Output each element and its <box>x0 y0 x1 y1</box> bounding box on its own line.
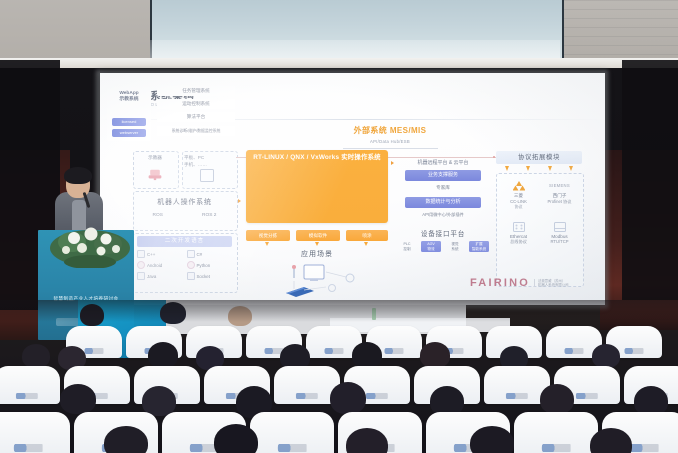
sdk-languages-grid: C++ C# Android Python Java Socket <box>137 250 232 280</box>
ros2-item: ROS 2 <box>202 213 216 218</box>
fairino-logo: FAIRINO 法奥意威（苏州） 机器人系统有限公司 <box>470 277 590 289</box>
robot-os-items: ROS ROS 2 <box>133 213 236 218</box>
cloud-service-button: 业务支撑服务 <box>405 170 481 181</box>
tablet-icon <box>200 169 214 182</box>
down-arrow-icon <box>505 166 509 171</box>
protocol-note: RTU/TCP <box>540 239 579 244</box>
audience-head <box>60 384 96 414</box>
screenshot-root: 控制系统架构 CONTROL SYSTEM STRUCTURE 外部系统 MES… <box>0 0 678 453</box>
lang-label: Python <box>197 263 211 268</box>
lang-item: Socket <box>187 272 233 280</box>
core-modules-list: 任务管理系统 运动控制系统 算法平台 系统诊断/维护/数据监控系统 <box>157 86 235 139</box>
realtime-os-header: RT-LINUX / QNX / VxWorks 实时操作系统 <box>246 152 388 161</box>
tab-arrow <box>315 242 319 246</box>
python-icon <box>187 261 195 269</box>
tab-arrow <box>265 242 269 246</box>
sdk-languages-header: 二次开发语言 <box>137 236 232 247</box>
audience-head <box>540 384 574 414</box>
mitsubishi-icon <box>499 179 538 192</box>
protocol-item: SIEMENS 西门子 Profinet 协议 <box>540 179 579 210</box>
audience-chair <box>250 412 334 453</box>
audience-head <box>330 382 366 414</box>
api-hub-label: API/Data Hub/ESB <box>315 139 465 144</box>
wall-right-texture <box>558 0 678 60</box>
siemens-icon: SIEMENS <box>540 179 579 192</box>
external-system-label: 外部系统 MES/MIS <box>315 125 465 136</box>
webapp-title: WebApp 示教系统 <box>107 91 151 103</box>
flower-arrangement <box>44 218 136 268</box>
presentation-slide: 控制系统架构 CONTROL SYSTEM STRUCTURE 外部系统 MES… <box>100 73 605 305</box>
fairino-wordmark: FAIRINO <box>470 277 530 289</box>
client-devices-label: 平板、PC 手机、…… <box>184 155 234 168</box>
application-scene-title: 应用场景 <box>246 249 388 259</box>
api-connector-line <box>343 148 438 149</box>
realtime-os-card: RT-LINUX / QNX / VxWorks 实时操作系统 <box>246 150 388 223</box>
audience-area <box>0 300 678 453</box>
app-tab: 模拟软件 <box>296 230 340 241</box>
expert-library-label: 专家库 <box>397 185 489 191</box>
audience-head <box>352 342 382 368</box>
lang-item: Java <box>137 272 183 280</box>
device-tag: PLC 控制 <box>397 242 417 251</box>
lang-item: Python <box>187 261 233 269</box>
lang-label: Android <box>147 263 162 268</box>
down-arrow-icon <box>526 166 530 171</box>
projection-screen: 控制系统架构 CONTROL SYSTEM STRUCTURE 外部系统 MES… <box>100 73 605 305</box>
audience-head <box>420 342 450 368</box>
protocol-item: Modbus RTU/TCP <box>540 220 579 245</box>
protocol-arrows <box>496 166 582 171</box>
csharp-icon <box>187 250 195 258</box>
audience-head <box>592 344 620 368</box>
app-tab: 视觉分拣 <box>246 230 290 241</box>
lang-item: C# <box>187 250 233 258</box>
connector-left <box>236 157 246 158</box>
lang-label: C++ <box>147 252 155 257</box>
device-tag: 扩展 智能系统 <box>469 241 489 252</box>
protocol-items-grid: 三菱 CC-LINK 协议 SIEMENS 西门子 Profinet 协议 Et… <box>499 179 579 245</box>
core-module-row: 运动控制系统 <box>157 99 235 109</box>
device-tag: AGV 物流 <box>421 241 441 252</box>
core-module-row: 系统诊断/维护/数据监控系统 <box>157 126 235 136</box>
lang-item: C++ <box>137 250 183 258</box>
core-module-row: 任务管理系统 <box>157 86 235 96</box>
app-tab: 喷涂 <box>346 230 388 241</box>
down-arrow-icon <box>548 166 552 171</box>
device-tag: 视觉 系统 <box>445 242 465 251</box>
teach-pendant-icon <box>147 168 163 181</box>
cloud-platform-title: 机器远程平台 & 云平台 <box>397 159 489 166</box>
audience-head <box>214 424 258 453</box>
android-icon <box>137 261 145 269</box>
api-center-label: API用微中心/外部插件 <box>397 212 489 218</box>
webapp-chip-webserver: webserver <box>112 129 146 137</box>
teach-pendant-label: 示教器 <box>133 155 177 161</box>
arrow-to-cloud <box>391 161 394 165</box>
ethercat-icon <box>499 220 538 233</box>
core-module-row: 算法平台 <box>157 112 235 122</box>
robot-os-title: 机器人操作系统 <box>133 197 236 207</box>
audience-chair <box>0 366 60 404</box>
audience-head <box>22 344 50 368</box>
socket-icon <box>187 272 195 280</box>
protocol-note: Profinet 协议 <box>540 199 579 205</box>
ceiling-band <box>0 58 678 68</box>
arrow-into-core <box>238 199 241 203</box>
wall-left-panel <box>0 0 152 60</box>
audience-chair <box>0 412 70 453</box>
down-arrow-icon <box>569 166 573 171</box>
cpp-icon <box>137 250 145 258</box>
device-platform-title: 设备接口平台 <box>397 228 489 238</box>
lang-label: C# <box>197 252 203 257</box>
tab-arrow <box>364 242 368 246</box>
lang-label: Java <box>147 274 156 279</box>
ros-item: ROS <box>153 213 163 218</box>
fairino-company-name: 法奥意威（苏州） 机器人系统有限公司 <box>534 279 569 287</box>
application-scene-illustration <box>246 261 388 303</box>
protocol-module-header: 协议拓展模块 <box>496 151 582 164</box>
protocol-note: 总线协议 <box>499 239 538 245</box>
protocol-item: Ethercat 总线协议 <box>499 220 538 245</box>
lang-label: Socket <box>197 274 210 279</box>
protocol-note: 协议 <box>499 204 538 210</box>
connector-right <box>388 157 496 158</box>
webapp-chip-licensed: licensed <box>112 118 146 126</box>
audience-chair <box>514 412 598 453</box>
speaker-hair <box>64 167 92 184</box>
java-icon <box>137 272 145 280</box>
audience-head <box>104 426 148 453</box>
audience-head <box>470 426 514 453</box>
modbus-icon <box>540 220 579 233</box>
audience-fog <box>0 300 678 322</box>
protocol-item: 三菱 CC-LINK 协议 <box>499 179 538 210</box>
dark-wall-right <box>622 60 678 300</box>
device-tags-row: PLC 控制 AGV 物流 视觉 系统 扩展 智能系统 <box>397 241 489 252</box>
lang-item: Android <box>137 261 183 269</box>
audience-head <box>148 342 178 368</box>
cloud-analytics-button: 数据统计与分析 <box>405 197 481 208</box>
